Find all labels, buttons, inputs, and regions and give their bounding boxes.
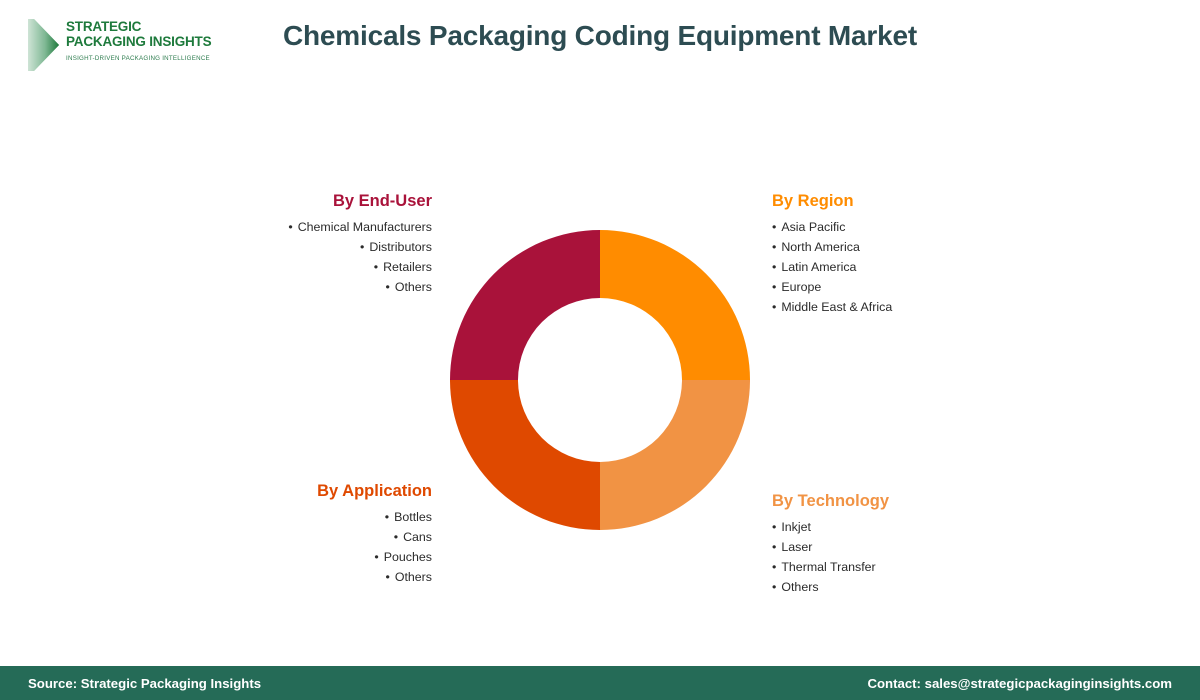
segment-heading-technology: By Technology (772, 492, 1102, 511)
segment-group-technology: By Technology Inkjet Laser Thermal Trans… (772, 492, 1102, 597)
list-item: Others (772, 577, 1102, 597)
donut-segment-region (600, 230, 750, 380)
segment-group-region: By Region Asia Pacific North America Lat… (772, 192, 1102, 317)
segment-heading-application: By Application (130, 482, 432, 501)
segment-heading-end-user: By End-User (130, 192, 432, 211)
page-title: Chemicals Packaging Coding Equipment Mar… (0, 20, 1200, 52)
footer-contact: Contact: sales@strategicpackaginginsight… (867, 676, 1172, 691)
footer-bar: Source: Strategic Packaging Insights Con… (0, 666, 1200, 700)
logo-tagline: INSIGHT-DRIVEN PACKAGING INTELLIGENCE (66, 55, 226, 62)
list-item: Pouches (130, 547, 432, 567)
list-item: Bottles (130, 507, 432, 527)
segment-list-technology: Inkjet Laser Thermal Transfer Others (772, 517, 1102, 597)
list-item: Retailers (130, 257, 432, 277)
list-item: Distributors (130, 237, 432, 257)
donut-segment-technology (600, 380, 750, 530)
list-item: Latin America (772, 257, 1102, 277)
list-item: Chemical Manufacturers (130, 217, 432, 237)
list-item: North America (772, 237, 1102, 257)
segment-list-end-user: Chemical Manufacturers Distributors Reta… (130, 217, 432, 297)
donut-segment-end-user (450, 230, 600, 380)
donut-segment-application (450, 380, 600, 530)
list-item: Thermal Transfer (772, 557, 1102, 577)
segment-heading-region: By Region (772, 192, 1102, 211)
list-item: Others (130, 567, 432, 587)
list-item: Laser (772, 537, 1102, 557)
segment-list-region: Asia Pacific North America Latin America… (772, 217, 1102, 317)
segment-list-application: Bottles Cans Pouches Others (130, 507, 432, 587)
list-item: Others (130, 277, 432, 297)
list-item: Middle East & Africa (772, 297, 1102, 317)
donut-chart (450, 230, 750, 530)
list-item: Asia Pacific (772, 217, 1102, 237)
footer-source: Source: Strategic Packaging Insights (28, 676, 261, 691)
segment-group-end-user: By End-User Chemical Manufacturers Distr… (130, 192, 432, 297)
list-item: Europe (772, 277, 1102, 297)
segment-group-application: By Application Bottles Cans Pouches Othe… (130, 482, 432, 587)
list-item: Cans (130, 527, 432, 547)
list-item: Inkjet (772, 517, 1102, 537)
